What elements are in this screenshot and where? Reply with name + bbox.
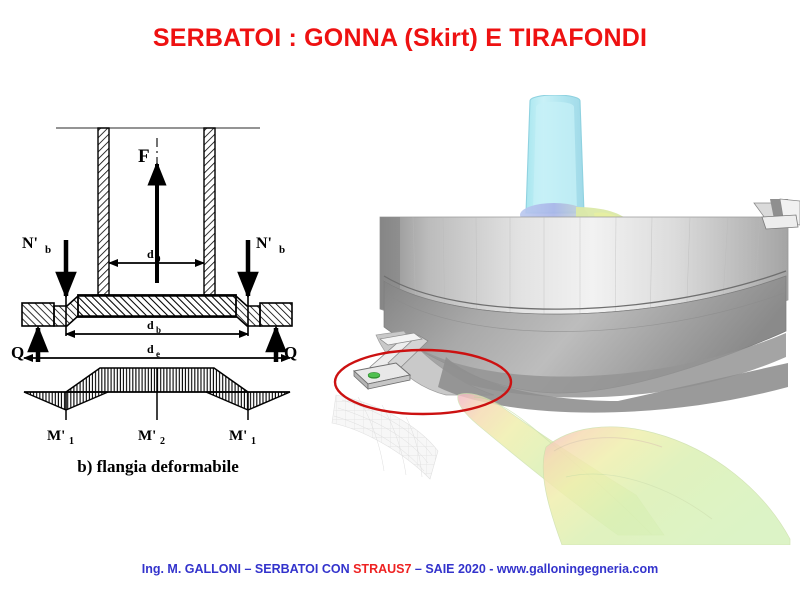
label-dim-de: d (147, 342, 154, 356)
label-moment-M1-right-sub: 1 (251, 436, 256, 447)
fea-geometry (332, 95, 800, 545)
label-reaction-Q-right: Q (284, 343, 297, 362)
label-force-Nb-right-sub: b (279, 244, 285, 256)
moment-diagram: M' 1 M' 2 M' 1 (24, 368, 290, 447)
tank-skirt-fea-render (318, 95, 800, 545)
label-moment-M2-sub: 2 (160, 436, 165, 447)
nozzle-part (520, 95, 630, 227)
flange-load-diagram: F N' b N' b Q Q d 0 (8, 100, 308, 500)
label-reaction-Q-left: Q (11, 343, 24, 362)
label-moment-M2: M' (138, 428, 156, 444)
footer-suffix: – SAIE 2020 - www.galloningegneria.com (411, 562, 658, 576)
label-dim-d0: d (147, 247, 154, 261)
label-moment-M1-left-sub: 1 (69, 436, 74, 447)
label-dim-db: d (147, 318, 154, 332)
slide-canvas: SERBATOI : GONNA (Skirt) E TIRAFONDI (0, 0, 800, 600)
label-moment-M1-left: M' (47, 428, 65, 444)
footer-highlight: STRAUS7 (353, 562, 411, 576)
label-force-F: F (138, 146, 150, 167)
label-dim-db-sub: b (156, 325, 161, 335)
label-force-Nb-left: N' (22, 235, 38, 252)
label-force-Nb-right: N' (256, 235, 272, 252)
contour-result-fragment-right (543, 427, 790, 545)
footer-prefix: Ing. M. GALLONI – SERBATOI CON (142, 562, 353, 576)
label-dim-d0-sub: 0 (156, 254, 161, 264)
mesh-fragment (332, 395, 438, 479)
drawing-body: F N' b N' b Q Q d 0 (11, 128, 297, 476)
page-title: SERBATOI : GONNA (Skirt) E TIRAFONDI (0, 24, 800, 53)
figure-caption: b) flangia deformabile (77, 457, 239, 476)
label-force-Nb-left-sub: b (45, 244, 51, 256)
slide-footer: Ing. M. GALLONI – SERBATOI CON STRAUS7 –… (0, 562, 800, 576)
label-dim-de-sub: e (156, 349, 160, 359)
label-moment-M1-right: M' (229, 428, 247, 444)
